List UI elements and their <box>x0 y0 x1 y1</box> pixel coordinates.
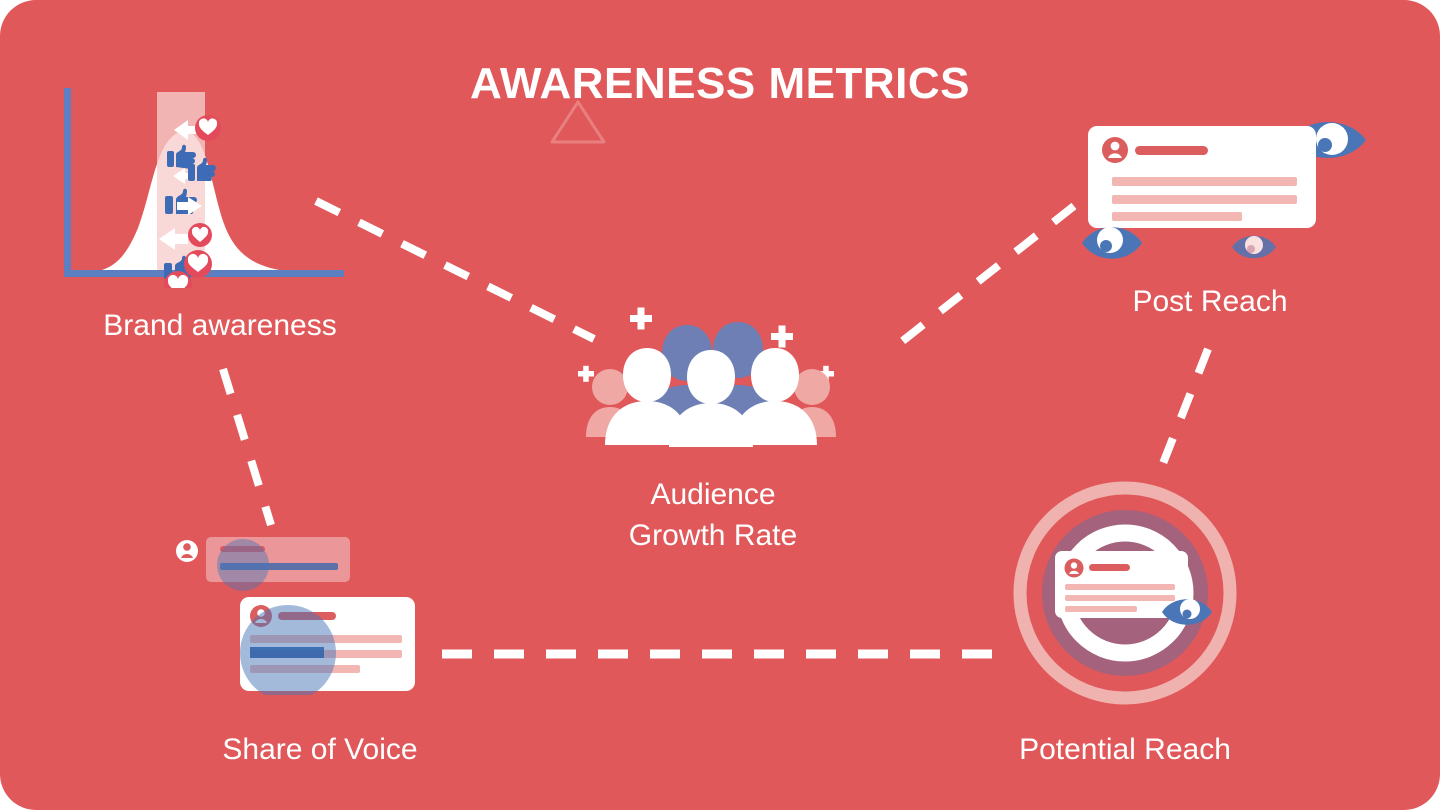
connector-postreach-to-potential <box>1150 345 1220 475</box>
concentric-rings-card-icon <box>1010 478 1240 708</box>
label-brand-awareness: Brand awareness <box>10 305 430 346</box>
page-title: AWARENESS METRICS <box>0 59 1440 109</box>
label-share-of-voice: Share of Voice <box>180 729 460 770</box>
connector-sov-to-potential <box>440 645 1010 663</box>
eye-icon <box>1082 227 1142 259</box>
connector-brand-to-sov <box>215 365 285 530</box>
label-post-reach: Post Reach <box>1060 281 1360 322</box>
label-audience-growth-rate: Audience Growth Rate <box>563 474 863 557</box>
post-card-with-eyes-icon <box>1080 110 1390 270</box>
blue-circle-overlay-icon <box>217 539 269 591</box>
connector-postreach-to-audience <box>880 200 1080 360</box>
bell-curve-chart-icon <box>60 88 350 288</box>
infographic-canvas: AWARENESS METRICS <box>0 0 1440 810</box>
label-potential-reach: Potential Reach <box>975 729 1275 770</box>
people-group-icon <box>566 305 856 455</box>
eye-icon <box>1232 236 1276 259</box>
stacked-cards-icon <box>168 525 438 695</box>
